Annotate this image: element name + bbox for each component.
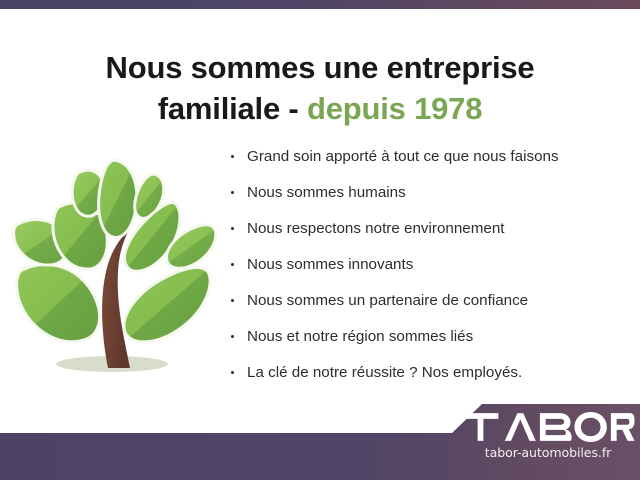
bullet-dot-icon — [231, 371, 234, 374]
brand-tagline[interactable]: tabor-automobiles.fr — [456, 445, 640, 460]
bullet-dot-icon — [231, 155, 234, 158]
feature-list: Grand soin apporté à tout ce que nous fa… — [228, 146, 628, 398]
tree-illustration — [8, 152, 222, 380]
headline-accent-year: depuis 1978 — [307, 91, 482, 126]
bullet-dot-icon — [231, 227, 234, 230]
list-item-label: Nous sommes humains — [247, 184, 406, 201]
list-item: Grand soin apporté à tout ce que nous fa… — [228, 146, 628, 182]
list-item-label: Nous sommes innovants — [247, 256, 413, 273]
bullet-dot-icon — [231, 191, 234, 194]
list-item-label: Grand soin apporté à tout ce que nous fa… — [247, 148, 559, 165]
list-item: Nous sommes innovants — [228, 254, 628, 290]
list-item: Nous sommes humains — [228, 182, 628, 218]
tabor-wordmark-icon — [456, 412, 640, 442]
headline-line-2: familiale - depuis 1978 — [0, 88, 640, 129]
list-item-label: Nous sommes un partenaire de confiance — [247, 292, 528, 309]
headline-line-1: Nous sommes une entreprise — [106, 50, 535, 85]
list-item: Nous et notre région sommes liés — [228, 326, 628, 362]
slide-canvas: Nous sommes une entreprise familiale - d… — [0, 0, 640, 480]
list-item: Nous sommes un partenaire de confiance — [228, 290, 628, 326]
leaf — [99, 160, 137, 237]
bullet-dot-icon — [231, 335, 234, 338]
bullet-dot-icon — [231, 299, 234, 302]
leaf — [17, 265, 100, 342]
brand-logo[interactable]: tabor-automobiles.fr — [456, 412, 640, 460]
top-accent-bar — [0, 0, 640, 9]
leaf — [124, 267, 210, 341]
list-item: Nous respectons notre environnement — [228, 218, 628, 254]
list-item-label: Nous et notre région sommes liés — [247, 328, 473, 345]
page-title: Nous sommes une entreprise familiale - d… — [0, 47, 640, 129]
list-item-label: La clé de notre réussite ? Nos employés. — [247, 364, 522, 381]
bullet-dot-icon — [231, 263, 234, 266]
list-item-label: Nous respectons notre environnement — [247, 220, 505, 237]
headline-line-2-plain: familiale - — [158, 91, 307, 126]
list-item: La clé de notre réussite ? Nos employés. — [228, 362, 628, 398]
